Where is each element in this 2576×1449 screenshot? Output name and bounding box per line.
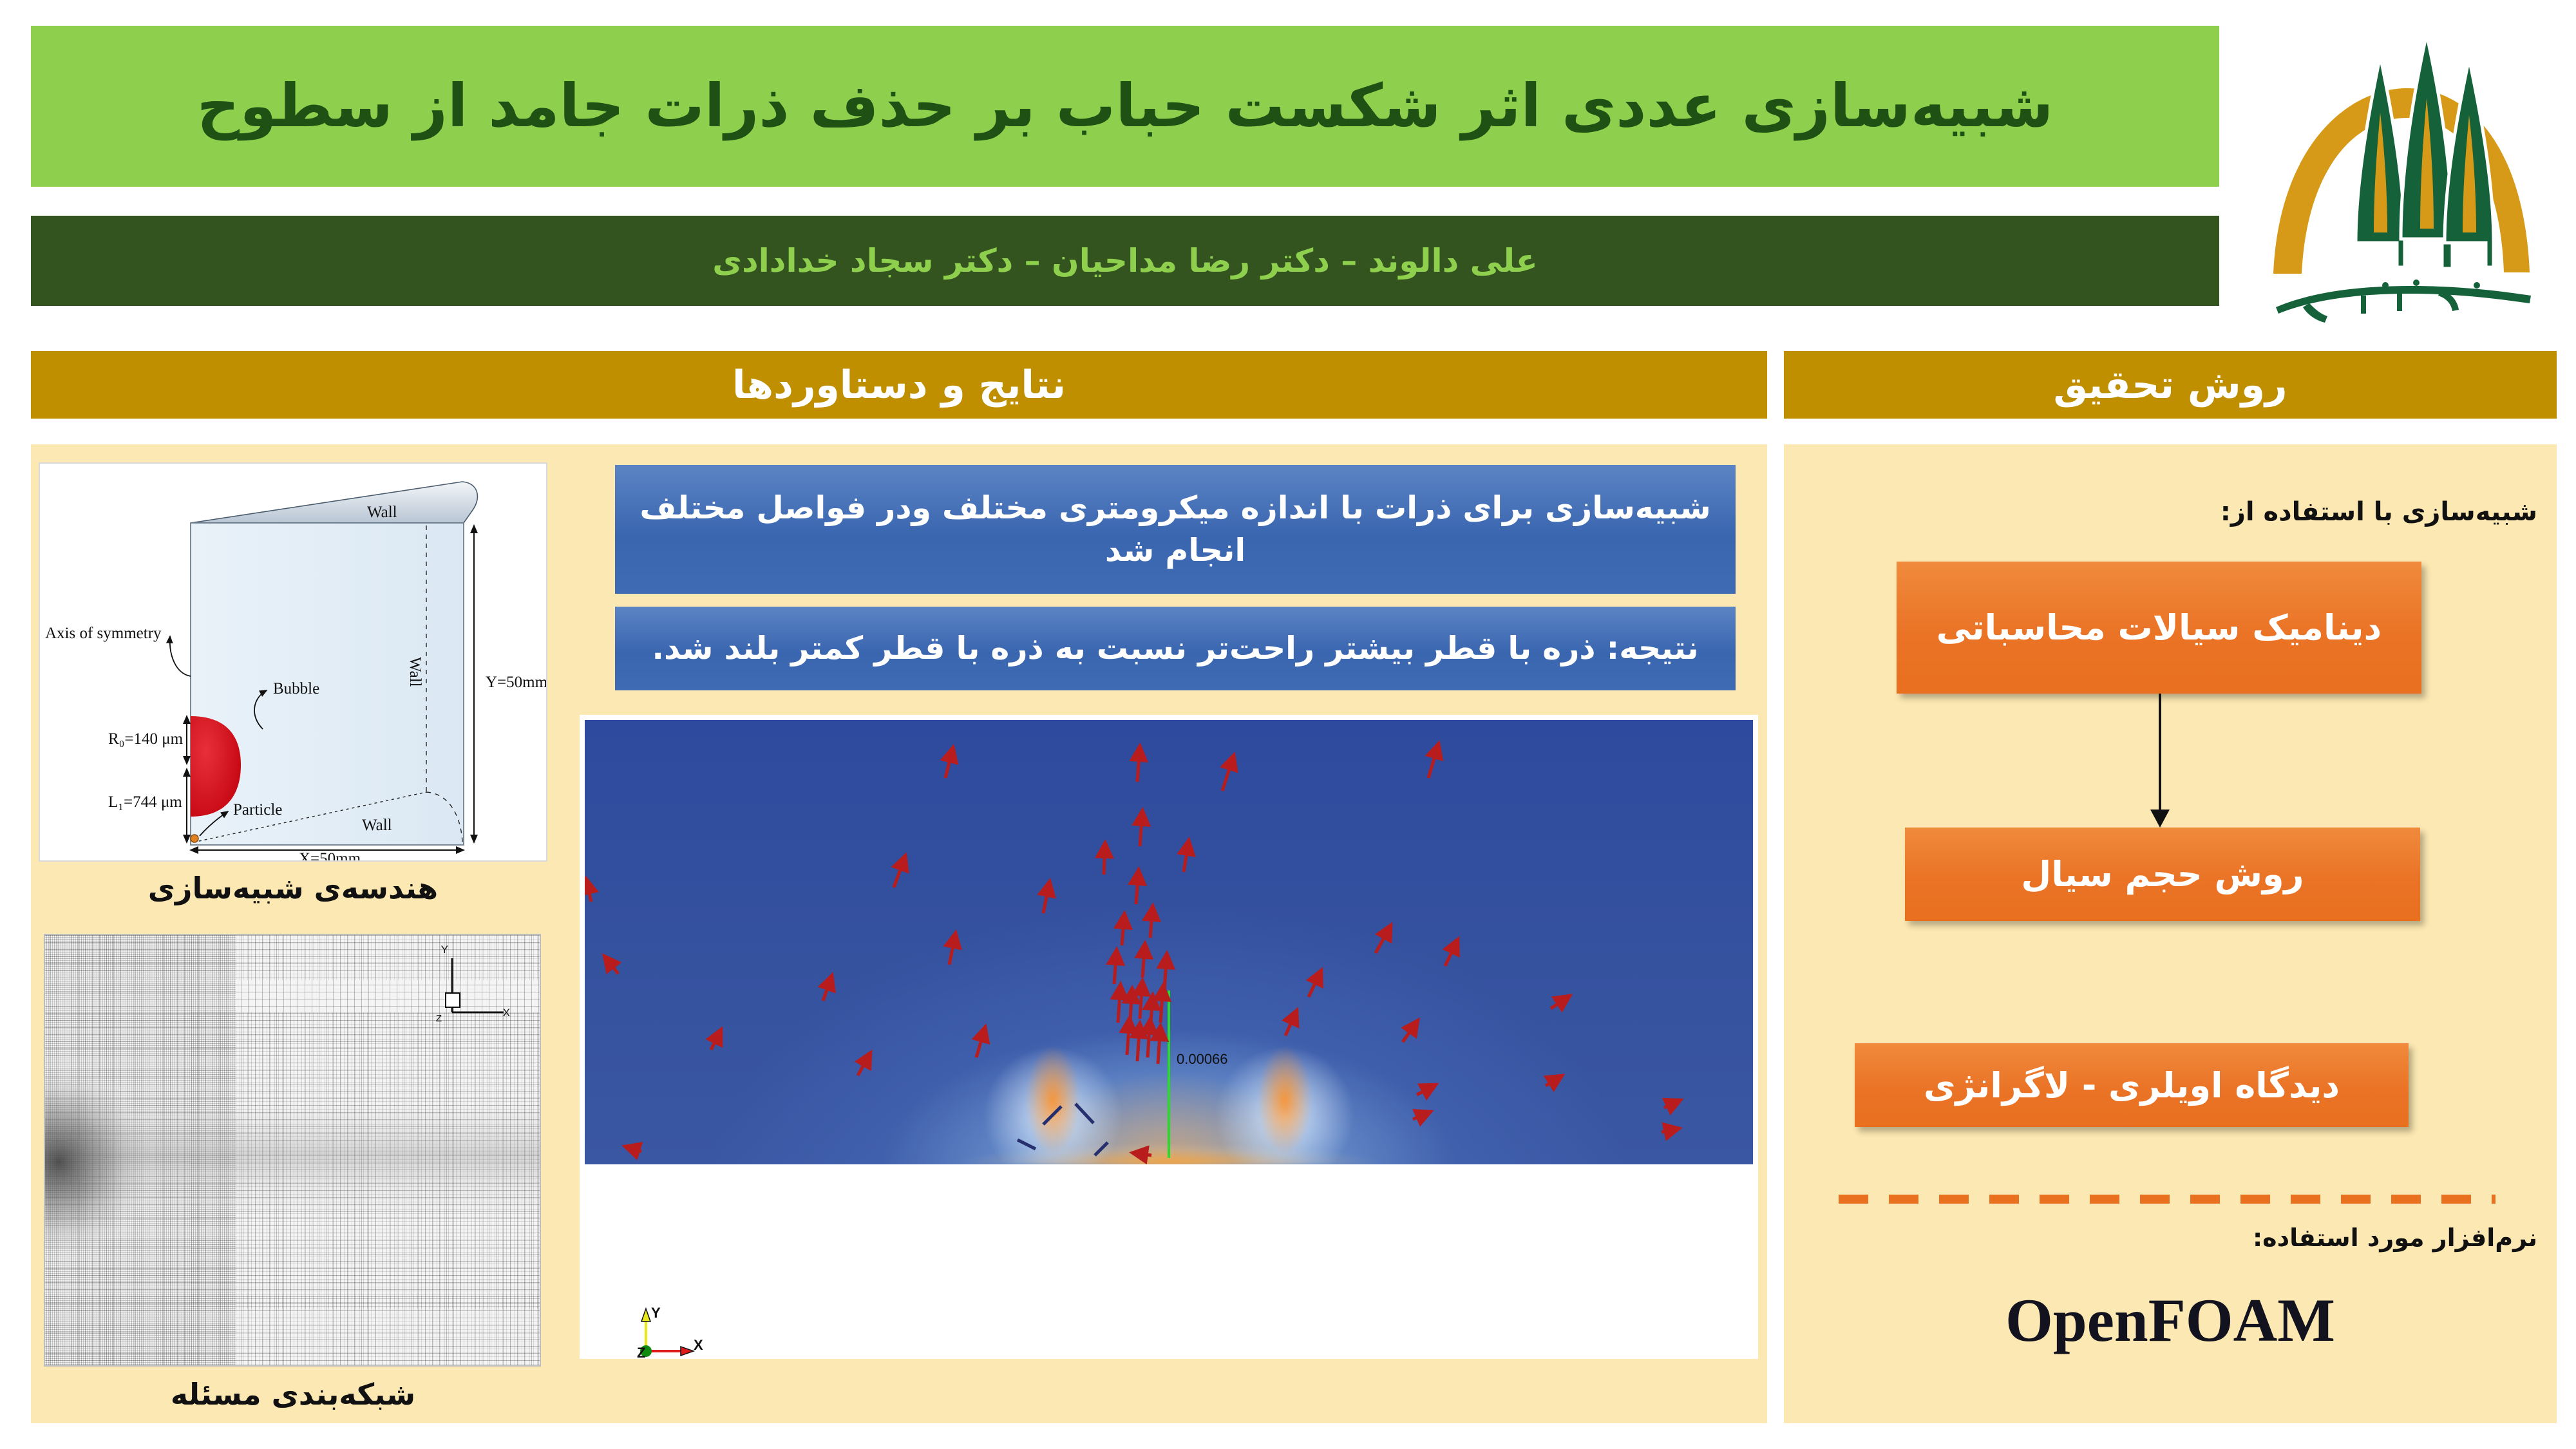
geo-label-wall-top: Wall	[367, 504, 397, 522]
result-callout-1-text: شبیه‌سازی برای ذرات با اندازه میکرومتری …	[637, 487, 1714, 572]
geo-label-length: L₁=744 μm	[108, 793, 182, 811]
poster-title-bar: شبیه‌سازی عددی اثر شکست حباب بر حذف ذرات…	[31, 26, 2219, 187]
mesh-axis-z-label: Z	[436, 1013, 442, 1024]
result-callout-2: نتیجه: ذره با قطر بیشتر راحت‌تر نسبت به …	[615, 607, 1736, 690]
method-step-euler-lagrange: دیدگاه اویلری - لاگرانژی	[1855, 1043, 2409, 1127]
cfd-orientation-triad: Y X Z	[634, 1302, 712, 1360]
cfd-contour-image: 0.00066	[585, 720, 1753, 1164]
geo-label-axis-of-symmetry: Axis of symmetry	[45, 625, 162, 643]
geo-label-particle: Particle	[233, 801, 282, 819]
method-step-euler-lagrange-label: دیدگاه اویلری - لاگرانژی	[1924, 1065, 2340, 1106]
result-callout-2-text: نتیجه: ذره با قطر بیشتر راحت‌تر نسبت به …	[652, 627, 1698, 670]
poster-authors-bar: علی دالوند – دکتر رضا مداحیان – دکتر سجا…	[31, 216, 2219, 306]
result-callout-1: شبیه‌سازی برای ذرات با اندازه میکرومتری …	[615, 465, 1736, 594]
cfd-result-figure: 0.00066	[580, 715, 1758, 1359]
section-header-method: روش تحقیق	[1784, 351, 2557, 419]
geo-label-x-dim: X=50mm	[299, 850, 361, 862]
geometry-figure-caption: هندسه‌ی شبیه‌سازی	[39, 871, 547, 905]
mesh-figure-caption: شبکه‌بندی مسئله	[39, 1377, 547, 1412]
page-title: شبیه‌سازی عددی اثر شکست حباب بر حذف ذرات…	[158, 73, 2092, 138]
method-intro-label: شبیه‌سازی با استفاده از:	[1803, 497, 2537, 527]
geometry-figure: Wall Wall Wall Axis of symmetry Bubble P…	[39, 462, 547, 862]
mesh-axis-x-label: X	[503, 1007, 510, 1019]
mesh-diagram-svg: Y X Z	[44, 935, 540, 1367]
geo-label-y-dim: Y=50mm	[486, 674, 547, 692]
section-header-method-label: روش تحقیق	[2053, 363, 2287, 408]
method-step-cfd: دینامیک سیالات محاسباتی	[1897, 562, 2421, 694]
geo-label-wall-bottom: Wall	[362, 817, 392, 835]
method-flow-arrow	[2159, 694, 2161, 811]
software-name: OpenFOAM	[1803, 1285, 2537, 1356]
tarbiat-modares-logo-icon	[2248, 16, 2557, 328]
geo-label-bubble: Bubble	[273, 680, 319, 698]
mesh-axis-y-label: Y	[441, 943, 448, 956]
authors-list: علی دالوند – دکتر رضا مداحیان – دکتر سجا…	[712, 242, 1538, 279]
method-step-cfd-label: دینامیک سیالات محاسباتی	[1937, 607, 2382, 648]
triad-x-label: X	[694, 1337, 703, 1353]
university-logo	[2248, 16, 2557, 328]
geo-label-wall-right: Wall	[406, 657, 424, 687]
cfd-velocity-vectors	[585, 720, 1753, 1164]
poster-root: شبیه‌سازی عددی اثر شکست حباب بر حذف ذرات…	[0, 0, 2576, 1449]
geo-label-radius: R₀=140 μm	[108, 730, 183, 748]
triad-y-label: Y	[651, 1305, 661, 1321]
mesh-figure: Y X Z	[44, 934, 541, 1367]
triad-z-label: Z	[637, 1345, 645, 1360]
section-header-results: نتایج و دستاوردها	[31, 351, 1767, 419]
section-header-results-label: نتایج و دستاوردها	[732, 363, 1066, 408]
method-step-vof: روش حجم سیال	[1905, 828, 2420, 921]
method-dashed-divider	[1839, 1195, 2495, 1204]
software-label: نرم‌افزار مورد استفاده:	[1803, 1224, 2537, 1252]
method-step-vof-label: روش حجم سیال	[2021, 854, 2304, 895]
